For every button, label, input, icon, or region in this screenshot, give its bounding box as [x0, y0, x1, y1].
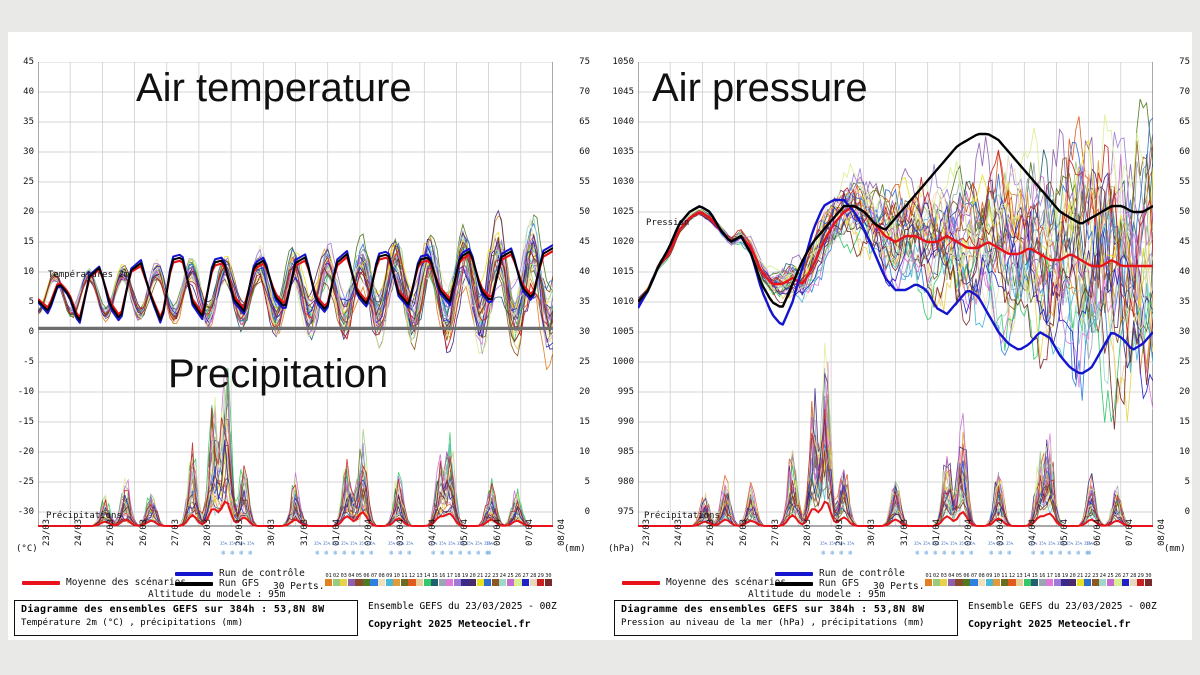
legend-member-number: 06: [963, 573, 970, 579]
legend-member-color: [925, 579, 932, 586]
legend-member-number: 14: [1024, 573, 1031, 579]
legend-member-swatch: 27: [1122, 573, 1129, 586]
pressure-snow-markers: 35%❄35%❄35%❄35%❄35%❄35%❄35%❄35%❄35%❄35%❄…: [638, 540, 1153, 570]
snowflake-icon: ❄: [839, 550, 843, 557]
legend-member-swatch: 20: [469, 573, 476, 586]
legend-member-number: 29: [1137, 573, 1144, 579]
legend-member-number: 17: [1046, 573, 1053, 579]
axis-tick-label: 0: [564, 508, 590, 517]
snow-probability-label: 35%: [448, 542, 455, 546]
footer-right-pressure: Ensemble GEFS du 23/03/2025 - 00Z Copyri…: [968, 601, 1157, 630]
snow-probability-label: 35%: [350, 542, 357, 546]
legend-member-swatch: 27: [522, 573, 529, 586]
legend-member-color: [401, 579, 408, 586]
legend-member-color: [439, 579, 446, 586]
snow-probability-label: 35%: [359, 542, 366, 546]
snowflake-icon: ❄: [1007, 550, 1011, 557]
snow-probability-label: 35%: [247, 542, 254, 546]
axis-tick-label: 35: [8, 118, 34, 127]
snowflake-icon: ❄: [248, 550, 252, 557]
legend-mean-label-right: Moyenne des scénarios: [666, 577, 786, 588]
axis-tick-label: 35: [1164, 298, 1190, 307]
legend-member-color: [1016, 579, 1023, 586]
snowflake-icon: ❄: [440, 550, 444, 557]
legend-member-number: 05: [955, 573, 962, 579]
axis-tick-label: -5: [8, 358, 34, 367]
legend-member-color: [378, 579, 385, 586]
legend-member-color: [408, 579, 415, 586]
snow-probability-label: 35%: [997, 542, 1004, 546]
legend-member-swatch: 08: [978, 573, 985, 586]
footer-right-temperature: Ensemble GEFS du 23/03/2025 - 00Z Copyri…: [368, 601, 557, 630]
legend-member-swatch: 28: [1130, 573, 1137, 586]
legend-member-number: 24: [1099, 573, 1106, 579]
axis-tick-label: 5: [1164, 478, 1190, 487]
snow-probability-label: 35%: [220, 542, 227, 546]
axis-tick-label: 70: [564, 88, 590, 97]
snow-probability-label: 35%: [820, 542, 827, 546]
footer-ensemble-date-pressure: Ensemble GEFS du 23/03/2025 - 00Z: [968, 601, 1157, 612]
snowflake-icon: ❄: [389, 550, 393, 557]
snowflake-icon: ❄: [239, 550, 243, 557]
legend-member-swatch: 20: [1069, 573, 1076, 586]
snowflake-icon: ❄: [969, 550, 973, 557]
snow-probability-label: 35%: [475, 542, 482, 546]
snowflake-icon: ❄: [924, 550, 928, 557]
snowflake-icon: ❄: [915, 550, 919, 557]
snow-probability-label: 35%: [238, 542, 245, 546]
legend-member-swatch: 17: [1046, 573, 1053, 586]
legend-member-color: [1114, 579, 1121, 586]
legend-member-number: 28: [530, 573, 537, 579]
axis-tick-label: 1050: [608, 58, 634, 67]
footer-sub-pressure: Pression au niveau de la mer (hPa) , pré…: [621, 618, 951, 628]
legend-member-color: [454, 579, 461, 586]
legend-member-swatch: 13: [416, 573, 423, 586]
legend-gfs-swatch: [175, 582, 213, 586]
legend-member-swatches: 0102030405060708091011121314151617181920…: [325, 573, 552, 586]
legend-member-number: 01: [325, 573, 332, 579]
legend-member-color: [325, 579, 332, 586]
legend-member-number: 05: [355, 573, 362, 579]
legend-member-number: 25: [1107, 573, 1114, 579]
legend-member-swatch: 07: [370, 573, 377, 586]
snow-probability-label: 35%: [829, 542, 836, 546]
legend-member-number: 27: [1122, 573, 1129, 579]
axis-tick-label: 1010: [608, 298, 634, 307]
axis-tick-label: 0: [1164, 508, 1190, 517]
legend-member-number: 20: [469, 573, 476, 579]
legend-member-color: [492, 579, 499, 586]
snow-probability-label: 35%: [229, 542, 236, 546]
pressure-left-unit: (hPa): [608, 544, 635, 554]
legend-member-swatch: 01: [325, 573, 332, 586]
legend-member-swatch: 12: [1008, 573, 1015, 586]
axis-tick-label: 980: [608, 478, 634, 487]
legend-member-color: [1039, 579, 1046, 586]
legend-member-number: 29: [537, 573, 544, 579]
legend-member-swatch: 04: [348, 573, 355, 586]
legend-member-number: 02: [933, 573, 940, 579]
snowflake-icon: ❄: [1087, 550, 1091, 557]
axis-tick-label: 985: [608, 448, 634, 457]
legend-member-number: 30: [545, 573, 552, 579]
legend-member-color: [1046, 579, 1053, 586]
snow-probability-label: 35%: [332, 542, 339, 546]
axis-tick-label: 15: [1164, 418, 1190, 427]
footer-box-temperature: Diagramme des ensembles GEFS sur 384h : …: [14, 600, 358, 636]
legend-gfs-swatch-right: [775, 582, 813, 586]
legend-member-color: [970, 579, 977, 586]
axis-tick-label: 70: [1164, 88, 1190, 97]
snowflake-icon: ❄: [1067, 550, 1071, 557]
axis-tick-label: 20: [1164, 388, 1190, 397]
legend-member-swatch: 11: [1001, 573, 1008, 586]
legend-member-color: [948, 579, 955, 586]
legend-member-swatch: 11: [401, 573, 408, 586]
legend-member-color: [1024, 579, 1031, 586]
legend-member-color: [1099, 579, 1106, 586]
legend-member-number: 20: [1069, 573, 1076, 579]
legend-member-number: 06: [363, 573, 370, 579]
snow-probability-label: 35%: [323, 542, 330, 546]
legend-member-swatch: 10: [993, 573, 1000, 586]
footer-ensemble-date-temperature: Ensemble GEFS du 23/03/2025 - 00Z: [368, 601, 557, 612]
snow-probability-label: 35%: [932, 542, 939, 546]
legend-member-number: 02: [333, 573, 340, 579]
pressure-right-unit: (mm): [1164, 544, 1186, 554]
snowflake-icon: ❄: [830, 550, 834, 557]
legend-member-swatch: 24: [499, 573, 506, 586]
x-axis-tick-label: 08/04: [1157, 519, 1167, 546]
legend-member-swatch: 15: [1031, 573, 1038, 586]
legend-member-number: 16: [439, 573, 446, 579]
axis-tick-label: 15: [564, 418, 590, 427]
axis-tick-label: 1020: [608, 238, 634, 247]
snowflake-icon: ❄: [951, 550, 955, 557]
legend-member-number: 25: [507, 573, 514, 579]
footer-sub-temperature: Température 2m (°C) , précipitations (mm…: [21, 618, 351, 628]
temperature-chart-svg: [38, 62, 553, 540]
axis-tick-label: 1015: [608, 268, 634, 277]
axis-tick-label: 990: [608, 418, 634, 427]
slide-canvas: 454035302520151050-5-10-15-20-25-30 7570…: [0, 0, 1200, 675]
axis-tick-label: 975: [608, 508, 634, 517]
legend-member-swatch: 30: [545, 573, 552, 586]
legend-member-color: [393, 579, 400, 586]
panel-temperature: 454035302520151050-5-10-15-20-25-30 7570…: [8, 32, 596, 640]
legend-member-color: [1031, 579, 1038, 586]
snow-probability-label: 35%: [1048, 542, 1055, 546]
axis-tick-label: 10: [8, 268, 34, 277]
snowflake-icon: ❄: [960, 550, 964, 557]
legend-member-swatch: 07: [970, 573, 977, 586]
legend-member-swatch: 25: [1107, 573, 1114, 586]
legend-member-number: 07: [370, 573, 377, 579]
snow-probability-label: 35%: [941, 542, 948, 546]
snowflake-icon: ❄: [1076, 550, 1080, 557]
axis-tick-label: 20: [564, 388, 590, 397]
snowflake-icon: ❄: [333, 550, 337, 557]
footer-title-pressure: Diagramme des ensembles GEFS sur 384h : …: [621, 604, 951, 615]
snowflake-icon: ❄: [221, 550, 225, 557]
snow-probability-label: 35%: [406, 542, 413, 546]
legend-member-swatch: 01: [925, 573, 932, 586]
snow-probability-label: 35%: [314, 542, 321, 546]
legend-member-color: [484, 579, 491, 586]
legend-member-number: 28: [1130, 573, 1137, 579]
snow-probability-label: 35%: [1030, 542, 1037, 546]
axis-tick-label: 10: [1164, 448, 1190, 457]
axis-tick-label: 1025: [608, 208, 634, 217]
snow-probability-label: 35%: [923, 542, 930, 546]
legend-member-number: 17: [446, 573, 453, 579]
legend-member-number: 27: [522, 573, 529, 579]
legend-member-number: 13: [1016, 573, 1023, 579]
legend-member-color: [333, 579, 340, 586]
legend-member-color: [431, 579, 438, 586]
axis-tick-label: 45: [564, 238, 590, 247]
snow-probability-label: 35%: [1039, 542, 1046, 546]
legend-gfs-label-right: Run GFS: [819, 578, 859, 589]
snow-probability-label: 35%: [838, 542, 845, 546]
snowflake-icon: ❄: [431, 550, 435, 557]
legend-member-color: [340, 579, 347, 586]
snow-probability-label: 35%: [1066, 542, 1073, 546]
snowflake-icon: ❄: [1058, 550, 1062, 557]
snowflake-icon: ❄: [369, 550, 373, 557]
legend-member-color: [1084, 579, 1091, 586]
legend-member-number: 07: [970, 573, 977, 579]
legend-member-number: 10: [993, 573, 1000, 579]
legend-member-swatch: 16: [439, 573, 446, 586]
snowflake-icon: ❄: [476, 550, 480, 557]
legend-member-number: 14: [424, 573, 431, 579]
legend-member-swatch: 23: [492, 573, 499, 586]
legend-member-number: 11: [1001, 573, 1008, 579]
axis-tick-label: 1005: [608, 328, 634, 337]
legend-member-number: 08: [978, 573, 985, 579]
legend-member-number: 01: [925, 573, 932, 579]
axis-tick-label: 25: [8, 178, 34, 187]
axis-tick-label: 1035: [608, 148, 634, 157]
snow-probability-label: 35%: [959, 542, 966, 546]
legend-member-number: 21: [477, 573, 484, 579]
snow-probability-label: 35%: [486, 542, 493, 546]
legend-member-swatch: 26: [514, 573, 521, 586]
snowflake-icon: ❄: [458, 550, 462, 557]
legend-member-swatch: 06: [963, 573, 970, 586]
legend-member-swatch: 05: [955, 573, 962, 586]
snowflake-icon: ❄: [1040, 550, 1044, 557]
legend-member-swatch: 08: [378, 573, 385, 586]
legend-member-color: [348, 579, 355, 586]
legend-member-color: [1054, 579, 1061, 586]
legend-member-color: [507, 579, 514, 586]
legend-member-color: [1122, 579, 1129, 586]
legend-member-swatch: 16: [1039, 573, 1046, 586]
legend-member-color: [1069, 579, 1076, 586]
legend-member-swatch: 22: [1084, 573, 1091, 586]
axis-tick-label: 10: [564, 448, 590, 457]
axis-tick-label: -15: [8, 418, 34, 427]
temperature-snow-markers: 35%❄35%❄35%❄35%❄35%❄35%❄35%❄35%❄35%❄35%❄…: [38, 540, 553, 570]
legend-member-color: [386, 579, 393, 586]
axis-tick-label: 30: [1164, 328, 1190, 337]
axis-tick-label: 75: [564, 58, 590, 67]
axis-tick-label: 20: [8, 208, 34, 217]
legend-member-swatch: 30: [1145, 573, 1152, 586]
footer-box-pressure: Diagramme des ensembles GEFS sur 384h : …: [614, 600, 958, 636]
snow-probability-label: 35%: [988, 542, 995, 546]
legend-member-swatch: 22: [484, 573, 491, 586]
axis-tick-label: 1000: [608, 358, 634, 367]
pressure-chart-svg: [638, 62, 1153, 540]
temperature-series-label: Températures 2m: [48, 270, 129, 280]
legend-member-swatch: 05: [355, 573, 362, 586]
legend-member-color: [545, 579, 552, 586]
legend-member-number: 18: [454, 573, 461, 579]
snowflake-icon: ❄: [1031, 550, 1035, 557]
axis-tick-label: 35: [564, 298, 590, 307]
legend-member-color: [355, 579, 362, 586]
axis-tick-label: 1030: [608, 178, 634, 187]
legend-member-color: [986, 579, 993, 586]
snow-probability-label: 35%: [368, 542, 375, 546]
snowflake-icon: ❄: [467, 550, 471, 557]
legend-member-swatch: 19: [1061, 573, 1068, 586]
snow-probability-label: 35%: [1057, 542, 1064, 546]
legend-mean-label: Moyenne des scénarios: [66, 577, 186, 588]
legend-member-swatch: 29: [537, 573, 544, 586]
legend-member-swatch: 14: [424, 573, 431, 586]
legend-member-swatch: 23: [1092, 573, 1099, 586]
snowflake-icon: ❄: [398, 550, 402, 557]
axis-tick-label: 30: [564, 328, 590, 337]
legend-member-swatch: 02: [933, 573, 940, 586]
legend-member-color: [363, 579, 370, 586]
axis-tick-label: 40: [1164, 268, 1190, 277]
legend-member-swatch: 12: [408, 573, 415, 586]
legend-mean-swatch: [22, 581, 60, 585]
legend-member-color: [446, 579, 453, 586]
legend-member-color: [940, 579, 947, 586]
temperature-right-unit: (mm): [564, 544, 586, 554]
pressure-precip-label: Précipitations: [644, 511, 720, 521]
legend-member-color: [469, 579, 476, 586]
legend-member-color: [1107, 579, 1114, 586]
snowflake-icon: ❄: [360, 550, 364, 557]
snowflake-icon: ❄: [848, 550, 852, 557]
legend-member-color: [963, 579, 970, 586]
axis-tick-label: 65: [1164, 118, 1190, 127]
snow-probability-label: 35%: [439, 542, 446, 546]
legend-member-color: [978, 579, 985, 586]
snow-probability-label: 35%: [1086, 542, 1093, 546]
snow-probability-label: 35%: [388, 542, 395, 546]
snow-probability-label: 35%: [1006, 542, 1013, 546]
legend-member-number: 26: [514, 573, 521, 579]
legend-member-color: [993, 579, 1000, 586]
legend-member-number: 18: [1054, 573, 1061, 579]
snowflake-icon: ❄: [989, 550, 993, 557]
legend-altitude-label-right: Altitude du modele : 95m: [748, 589, 885, 600]
axis-tick-label: 65: [564, 118, 590, 127]
legend-member-number: 09: [386, 573, 393, 579]
snowflake-icon: ❄: [998, 550, 1002, 557]
legend-member-swatch: 28: [530, 573, 537, 586]
legend-member-swatch: 17: [446, 573, 453, 586]
overlay-title-air-pressure: Air pressure: [652, 66, 868, 111]
snowflake-icon: ❄: [324, 550, 328, 557]
footer-copyright-pressure: Copyright 2025 Meteociel.fr: [968, 619, 1157, 630]
legend-member-number: 09: [986, 573, 993, 579]
snow-probability-label: 35%: [457, 542, 464, 546]
legend-member-color: [530, 579, 537, 586]
panel-pressure: 1050104510401035103010251020101510101005…: [600, 32, 1192, 640]
legend-member-color: [514, 579, 521, 586]
legend-member-swatch: 03: [340, 573, 347, 586]
snowflake-icon: ❄: [449, 550, 453, 557]
axis-tick-label: -10: [8, 388, 34, 397]
legend-member-color: [1077, 579, 1084, 586]
legend-member-swatch: 18: [1054, 573, 1061, 586]
legend-member-color: [1137, 579, 1144, 586]
legend-member-swatch: 13: [1016, 573, 1023, 586]
legend-member-color: [416, 579, 423, 586]
snowflake-icon: ❄: [821, 550, 825, 557]
legend-member-number: 19: [461, 573, 468, 579]
legend-member-color: [955, 579, 962, 586]
temperature-precip-label: Précipitations: [46, 511, 122, 521]
axis-tick-label: 25: [564, 358, 590, 367]
axis-tick-label: 1040: [608, 118, 634, 127]
pressure-series-label: Pression: [646, 218, 689, 228]
axis-tick-label: 5: [564, 478, 590, 487]
axis-tick-label: 1045: [608, 88, 634, 97]
footer-title-temperature: Diagramme des ensembles GEFS sur 384h : …: [21, 604, 351, 615]
snow-probability-label: 35%: [950, 542, 957, 546]
snowflake-icon: ❄: [342, 550, 346, 557]
legend-member-swatch: 09: [386, 573, 393, 586]
legend-member-color: [1001, 579, 1008, 586]
legend-member-number: 24: [499, 573, 506, 579]
snowflake-icon: ❄: [351, 550, 355, 557]
axis-tick-label: 40: [8, 88, 34, 97]
legend-member-number: 23: [1092, 573, 1099, 579]
legend-member-number: 08: [378, 573, 385, 579]
legend-member-number: 22: [1084, 573, 1091, 579]
snowflake-icon: ❄: [315, 550, 319, 557]
legend-member-swatch: 14: [1024, 573, 1031, 586]
legend-member-swatch: 03: [940, 573, 947, 586]
legend-member-swatch: 15: [431, 573, 438, 586]
axis-tick-label: 60: [564, 148, 590, 157]
legend-member-swatch: 04: [948, 573, 955, 586]
legend-member-color: [499, 579, 506, 586]
legend-member-swatch: 26: [1114, 573, 1121, 586]
legend-member-number: 12: [408, 573, 415, 579]
snowflake-icon: ❄: [407, 550, 411, 557]
snow-probability-label: 35%: [430, 542, 437, 546]
axis-tick-label: 50: [564, 208, 590, 217]
axis-tick-label: 995: [608, 388, 634, 397]
legend-member-number: 15: [431, 573, 438, 579]
axis-tick-label: 45: [8, 58, 34, 67]
legend-member-swatch: 02: [333, 573, 340, 586]
legend-member-color: [1092, 579, 1099, 586]
legend-member-swatch: 09: [986, 573, 993, 586]
